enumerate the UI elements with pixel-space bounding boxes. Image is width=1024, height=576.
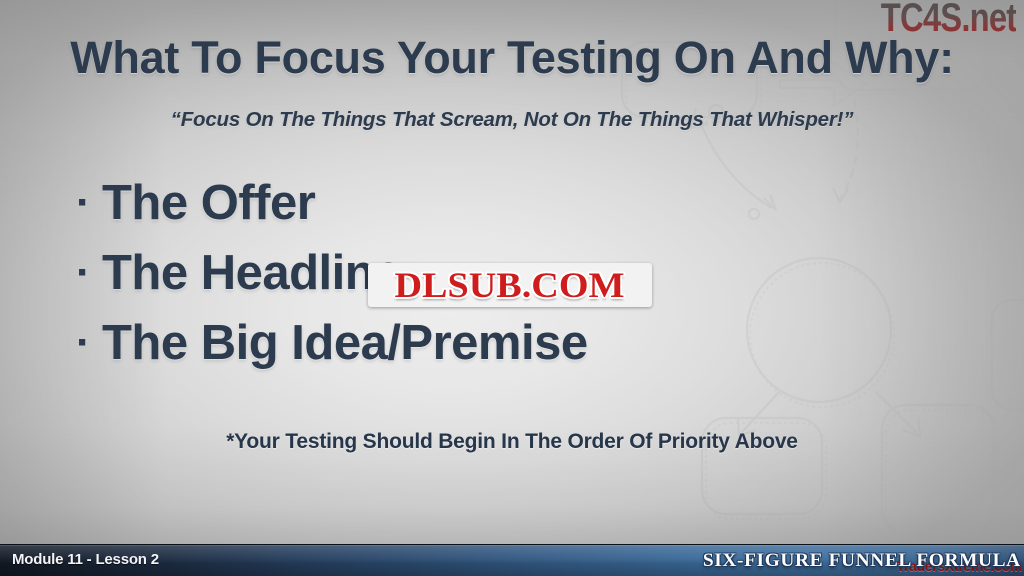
footer-brand-label: SIX-FIGURE FUNNEL FORMULA <box>703 550 1021 572</box>
watermark-dlsub-label: DLSUB.COM <box>395 264 625 306</box>
bullet-dot-icon: · <box>76 260 102 286</box>
bullet-dot-icon: · <box>76 190 102 216</box>
list-item: · The Offer <box>76 168 836 238</box>
bullet-label: The Headline <box>102 245 401 301</box>
watermark-dlsub: DLSUB.COM <box>368 263 652 307</box>
footer-module-label: Module 11 - Lesson 2 <box>12 551 159 568</box>
slide-canvas: TC4S.net What To Focus Your Testing On A… <box>0 0 1024 576</box>
bullet-label: The Offer <box>102 175 315 231</box>
list-item: · The Big Idea/Premise <box>76 308 836 378</box>
slide-footnote: *Your Testing Should Begin In The Order … <box>0 430 1024 454</box>
bullet-dot-icon: · <box>76 330 102 356</box>
footer-bar: Module 11 - Lesson 2 SIX-FIGURE FUNNEL F… <box>0 544 1024 576</box>
slide-title: What To Focus Your Testing On And Why: <box>0 32 1024 84</box>
bullet-label: The Big Idea/Premise <box>102 315 588 371</box>
slide-subtitle: “Focus On The Things That Scream, Not On… <box>0 108 1024 132</box>
